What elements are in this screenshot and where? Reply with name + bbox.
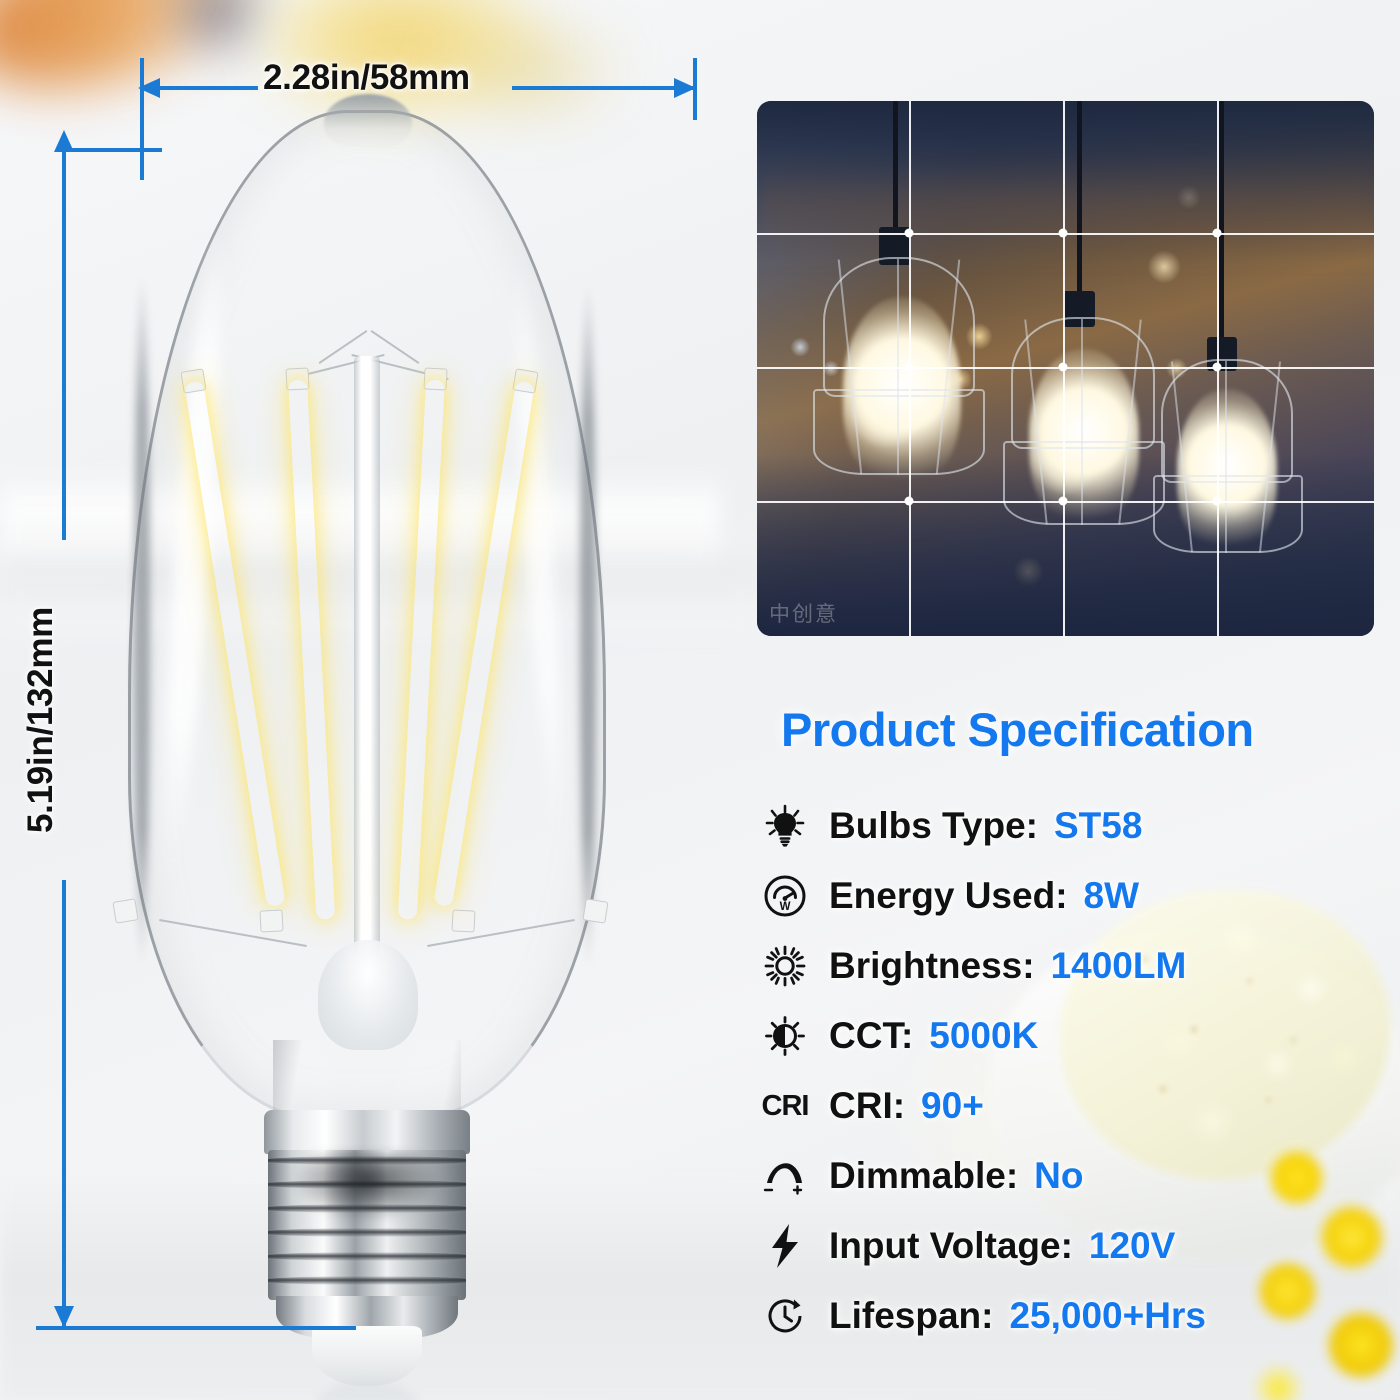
dimension-arrow-height-bottom [62, 880, 66, 1328]
product-infographic: 2.28in/58mm 5.19in/132mm [0, 0, 1400, 1400]
screw-thread [268, 1276, 466, 1285]
filament-cap [582, 898, 608, 923]
spec-label-lifespan: Lifespan: [829, 1295, 993, 1337]
spec-row-cri: CRI CRI: 90+ [757, 1078, 984, 1134]
spec-row-cct: CCT: 5000K [757, 1008, 1038, 1064]
bulb-icon [757, 804, 813, 848]
spec-value-dimmable: No [1034, 1155, 1083, 1197]
collage-grid-dot [1059, 497, 1068, 506]
arrowhead-right [674, 78, 696, 98]
collage-grid-dot [1059, 363, 1068, 372]
svg-text:W: W [780, 901, 791, 913]
spec-row-input-voltage: Input Voltage: 120V [757, 1218, 1175, 1274]
pendant-cage-lower [813, 389, 985, 475]
sun-icon [757, 944, 813, 988]
bulb-apex [324, 94, 412, 150]
spec-title: Product Specification [781, 702, 1254, 757]
collage-grid-dot [1059, 229, 1068, 238]
arrowhead-up [54, 130, 74, 152]
spec-row-energy-used: W Energy Used: 8W [757, 868, 1139, 924]
pendant-cage-lower [1153, 475, 1303, 553]
bulb-base-shadow [294, 1154, 440, 1220]
spec-row-brightness: Brightness: 1400LM [757, 938, 1186, 994]
dimension-arrow-height-top [62, 150, 66, 540]
collage-top-shade [757, 101, 1374, 262]
screw-thread [268, 1252, 466, 1261]
pendant-cage-rib [1081, 319, 1083, 525]
clock-icon [757, 1294, 813, 1338]
bulb-stem-base [318, 940, 418, 1050]
collage-grid-dot [1213, 363, 1222, 372]
bulb-edge-right [580, 280, 596, 970]
dimmer-icon [757, 1156, 813, 1196]
collage-grid-dot [905, 497, 914, 506]
spec-value-input-voltage: 120V [1089, 1225, 1175, 1267]
lightning-icon [757, 1223, 813, 1269]
dimension-tick-bottom [36, 1326, 356, 1330]
arrowhead-down [54, 1306, 74, 1328]
collage-grid-dot [1213, 497, 1222, 506]
collage-watermark: 中创意 [769, 598, 838, 628]
filament-cap [112, 898, 138, 923]
dimension-label-width: 2.28in/58mm [263, 58, 470, 98]
filament-cap [259, 909, 283, 932]
spec-row-lifespan: Lifespan: 25,000+Hrs [757, 1288, 1206, 1344]
spec-row-bulbs-type: Bulbs Type: ST58 [757, 798, 1142, 854]
arrowhead-left [138, 78, 160, 98]
filament-cap [451, 909, 475, 932]
spec-label-brightness: Brightness: [829, 945, 1035, 987]
background-yellow-flowers [1200, 1140, 1400, 1400]
dimension-tick-top [62, 148, 162, 152]
pendant-cord [893, 101, 898, 229]
wattage-gauge-icon: W [757, 874, 813, 918]
collage-grid-dot [905, 229, 914, 238]
cri-icon: CRI [757, 1090, 813, 1123]
bulb-edge-left [134, 270, 150, 970]
spec-label-dimmable: Dimmable: [829, 1155, 1018, 1197]
pendant-cage-lower [1003, 441, 1165, 525]
spec-value-cri: 90+ [921, 1085, 984, 1127]
pendant-cord [1077, 101, 1082, 293]
lifestyle-photo-collage: 中创意 [757, 101, 1374, 636]
spec-label-cct: CCT: [829, 1015, 913, 1057]
collage-grid-dot [905, 363, 914, 372]
spec-value-brightness: 1400LM [1051, 945, 1187, 987]
dimension-arrow-width-left [158, 86, 258, 90]
bulb-base-insulator-tip [312, 1326, 422, 1386]
bulb-base-collar [264, 1110, 470, 1154]
spec-label-input-voltage: Input Voltage: [829, 1225, 1073, 1267]
spec-row-dimmable: Dimmable: No [757, 1148, 1083, 1204]
spec-value-bulbs-type: ST58 [1054, 805, 1142, 847]
spec-label-cri: CRI: [829, 1085, 905, 1127]
pendant-cord [1219, 101, 1224, 339]
spec-label-bulbs-type: Bulbs Type: [829, 805, 1038, 847]
pendant-cage-rib [1225, 361, 1227, 553]
spec-value-energy-used: 8W [1084, 875, 1140, 917]
spec-label-energy-used: Energy Used: [829, 875, 1068, 917]
spec-value-cct: 5000K [929, 1015, 1038, 1057]
dimension-tick-left [140, 58, 144, 180]
product-photo-bulb [118, 110, 616, 1380]
spec-value-lifespan: 25,000+Hrs [1009, 1295, 1205, 1337]
screw-thread [268, 1228, 466, 1237]
collage-grid-dot [1213, 229, 1222, 238]
bulb-glass-stem [354, 356, 380, 956]
color-temp-icon [757, 1014, 813, 1058]
dimension-arrow-width-right [512, 86, 694, 90]
dimension-label-height: 5.19in/132mm [21, 607, 61, 833]
